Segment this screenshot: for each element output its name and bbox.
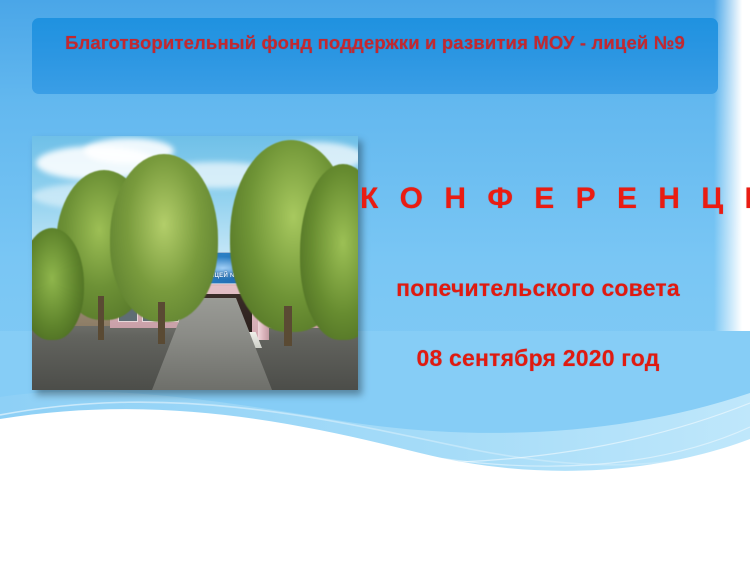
school-photo-content: ЛИЦЕЙ №9 xyxy=(32,136,358,390)
header-banner-text: Благотворительный фонд поддержки и разви… xyxy=(32,32,718,54)
header-banner: Благотворительный фонд поддержки и разви… xyxy=(32,18,718,94)
presentation-slide: Благотворительный фонд поддержки и разви… xyxy=(0,0,750,561)
photo-tree-trunk xyxy=(284,306,292,346)
slide-date: 08 сентября 2020 год xyxy=(360,345,716,372)
slide-headline: К О Н Ф Е Р Е Н Ц И Я xyxy=(360,182,738,216)
school-photo: ЛИЦЕЙ №9 xyxy=(32,136,358,390)
photo-tree-trunk xyxy=(158,302,165,344)
photo-tree xyxy=(110,154,218,322)
slide-subtitle: попечительского совета xyxy=(360,275,716,302)
photo-tree-trunk xyxy=(98,296,104,340)
